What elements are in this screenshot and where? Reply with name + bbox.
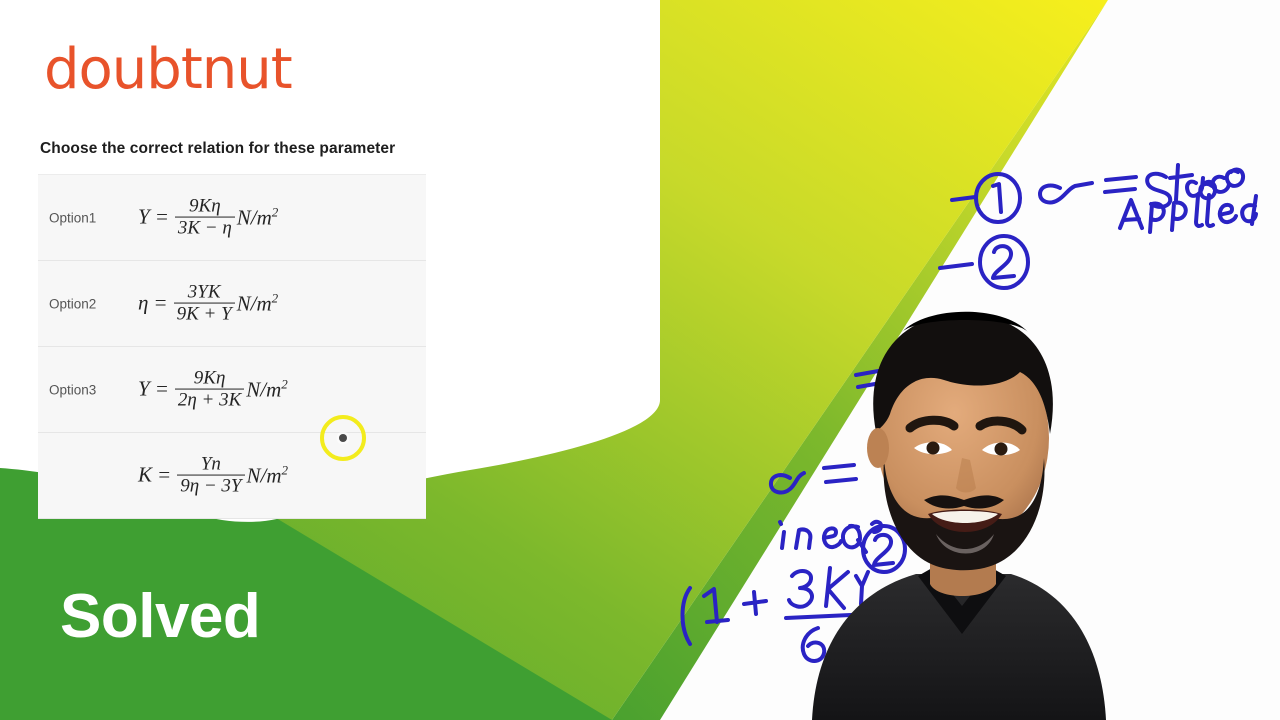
note-stress — [1147, 165, 1243, 207]
note-sigma-1 — [1040, 183, 1092, 202]
formula-equals: = — [155, 377, 169, 402]
formula-lhs: K — [138, 463, 152, 488]
fraction-denominator: 2η + 3K — [175, 389, 244, 411]
unit-text: N/m — [246, 378, 281, 402]
formula-fraction: 3YK 9K + Y — [174, 282, 235, 325]
option-label: Option1 — [49, 210, 96, 225]
presenter-pupil-left — [927, 442, 940, 455]
logo-wordmark: doubtnut — [44, 40, 292, 102]
note-one-2 — [704, 589, 728, 622]
fraction-numerator: 9Kη — [186, 196, 224, 217]
formula-equals: = — [157, 463, 171, 488]
option-row-3[interactable]: Option3 Y = 9Kη 2η + 3K N/m2 — [38, 347, 426, 433]
fraction-numerator: Yn — [198, 454, 224, 475]
note-numeral-1 — [993, 184, 1001, 212]
formula-lhs: Y — [138, 377, 150, 402]
note-applied — [1120, 195, 1256, 232]
unit-exponent: 2 — [272, 205, 279, 220]
unit-exponent: 2 — [281, 377, 288, 392]
solved-label: Solved — [60, 586, 260, 648]
note-paren — [683, 588, 691, 644]
unit-text: N/m — [247, 464, 282, 488]
option-formula: Y = 9Kη 2η + 3K N/m2 — [138, 368, 288, 411]
note-equals-1a — [1106, 177, 1136, 180]
note-circle-1 — [976, 174, 1020, 222]
screenshot-root: doubtnut Choose the correct relation for… — [0, 0, 1280, 720]
formula-equals: = — [153, 291, 167, 316]
unit-text: N/m — [237, 292, 272, 316]
option-row-4[interactable]: K = Yn 9η − 3Y N/m2 — [38, 433, 426, 519]
unit-exponent: 2 — [282, 463, 289, 478]
fraction-denominator: 9η − 3Y — [177, 475, 244, 497]
formula-unit: N/m2 — [237, 291, 279, 317]
note-dash-1 — [952, 197, 975, 200]
option-label: Option3 — [49, 382, 96, 397]
question-text: Choose the correct relation for these pa… — [40, 140, 560, 158]
option-formula: η = 3YK 9K + Y N/m2 — [138, 282, 278, 325]
option-row-2[interactable]: Option2 η = 3YK 9K + Y N/m2 — [38, 261, 426, 347]
unit-exponent: 2 — [272, 291, 279, 306]
formula-lhs: Y — [138, 205, 150, 230]
formula-unit: N/m2 — [246, 377, 288, 403]
fraction-numerator: 3YK — [185, 282, 224, 303]
option-row-1[interactable]: Option1 Y = 9Kη 3K − η N/m2 — [38, 174, 426, 261]
fraction-denominator: 9K + Y — [174, 303, 235, 325]
formula-fraction: Yn 9η − 3Y — [177, 454, 244, 497]
options-table: Option1 Y = 9Kη 3K − η N/m2 Option2 η = — [38, 174, 426, 519]
option-formula: K = Yn 9η − 3Y N/m2 — [138, 454, 288, 497]
formula-equals: = — [155, 205, 169, 230]
formula-lhs: η — [138, 291, 148, 316]
note-sigma-2 — [771, 473, 804, 492]
fraction-denominator: 3K − η — [175, 217, 235, 239]
formula-unit: N/m2 — [247, 463, 289, 489]
formula-fraction: 9Kη 3K − η — [175, 196, 235, 239]
formula-fraction: 9Kη 2η + 3K — [175, 368, 244, 411]
unit-text: N/m — [237, 206, 272, 230]
cursor-pointer[interactable] — [339, 434, 347, 442]
option-formula: Y = 9Kη 3K − η N/m2 — [138, 196, 278, 239]
doubtnut-logo: doubtnut — [44, 40, 344, 102]
presenter-photo — [806, 262, 1106, 720]
fraction-numerator: 9Kη — [191, 368, 229, 389]
presenter-pupil-right — [995, 443, 1008, 456]
formula-unit: N/m2 — [237, 205, 279, 231]
note-plus — [744, 592, 766, 614]
note-equals-1b — [1105, 189, 1135, 192]
option-label: Option2 — [49, 296, 96, 311]
presenter-ear-left — [867, 428, 889, 468]
